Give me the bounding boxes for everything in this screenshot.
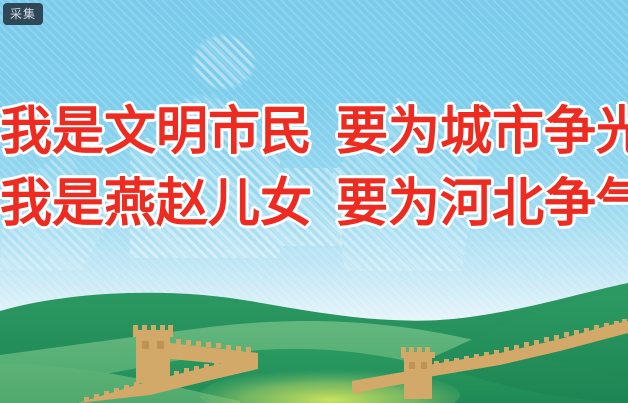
slogan-line-2: 我是燕赵儿女要为河北争气	[0, 168, 628, 240]
landscape-illustration	[0, 273, 628, 403]
slogan-line-2-left: 我是燕赵儿女	[0, 174, 312, 234]
capture-badge[interactable]: 采集	[3, 3, 43, 25]
poster-canvas: 我是文明市民要为城市争光 我是燕赵儿女要为河北争气 采集	[0, 0, 628, 403]
slogan-block: 我是文明市民要为城市争光 我是燕赵儿女要为河北争气	[0, 96, 628, 240]
slogan-line-1-left: 我是文明市民	[0, 102, 312, 162]
slogan-line-1-right: 要为城市争光	[336, 102, 628, 162]
slogan-line-2-right: 要为河北争气	[336, 174, 628, 234]
slogan-line-1: 我是文明市民要为城市争光	[0, 96, 628, 168]
